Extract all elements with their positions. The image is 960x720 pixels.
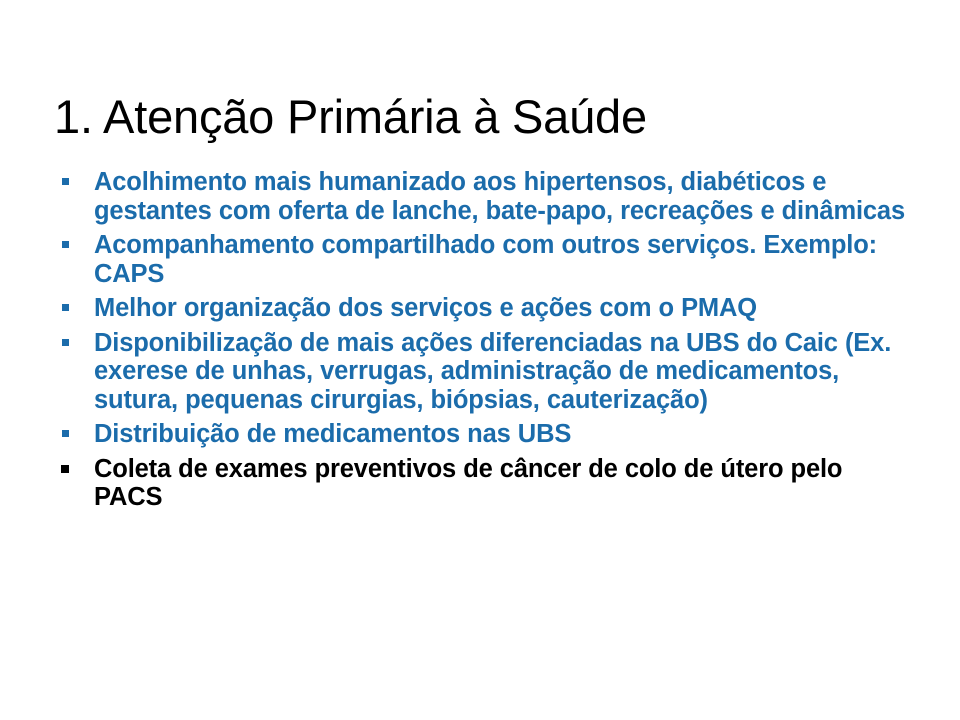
list-item-text: Distribuição de medicamentos nas UBS <box>94 420 906 449</box>
square-bullet-icon <box>62 178 69 185</box>
square-bullet-icon <box>62 304 69 311</box>
page-title: 1. Atenção Primária à Saúde <box>54 89 914 145</box>
slide-canvas: 1. Atenção Primária à Saúde Acolhimento … <box>0 0 960 720</box>
square-bullet-icon <box>61 465 69 473</box>
list-item: Melhor organização dos serviços e ações … <box>54 294 906 323</box>
list-item-text: Coleta de exames preventivos de câncer d… <box>94 455 906 512</box>
bullet-list: Acolhimento mais humanizado aos hiperten… <box>54 168 906 512</box>
square-bullet-icon <box>62 339 69 346</box>
list-item-text: Acolhimento mais humanizado aos hiperten… <box>94 168 906 225</box>
list-item: Coleta de exames preventivos de câncer d… <box>54 455 906 512</box>
square-bullet-icon <box>62 241 69 248</box>
list-item: Acolhimento mais humanizado aos hiperten… <box>54 168 906 225</box>
list-item: Disponibilização de mais ações diferenci… <box>54 329 906 415</box>
list-item: Acompanhamento compartilhado com outros … <box>54 231 906 288</box>
list-item: Distribuição de medicamentos nas UBS <box>54 420 906 449</box>
list-item-text: Melhor organização dos serviços e ações … <box>94 294 906 323</box>
square-bullet-icon <box>62 430 69 437</box>
list-item-text: Acompanhamento compartilhado com outros … <box>94 231 906 288</box>
list-item-text: Disponibilização de mais ações diferenci… <box>94 329 906 415</box>
